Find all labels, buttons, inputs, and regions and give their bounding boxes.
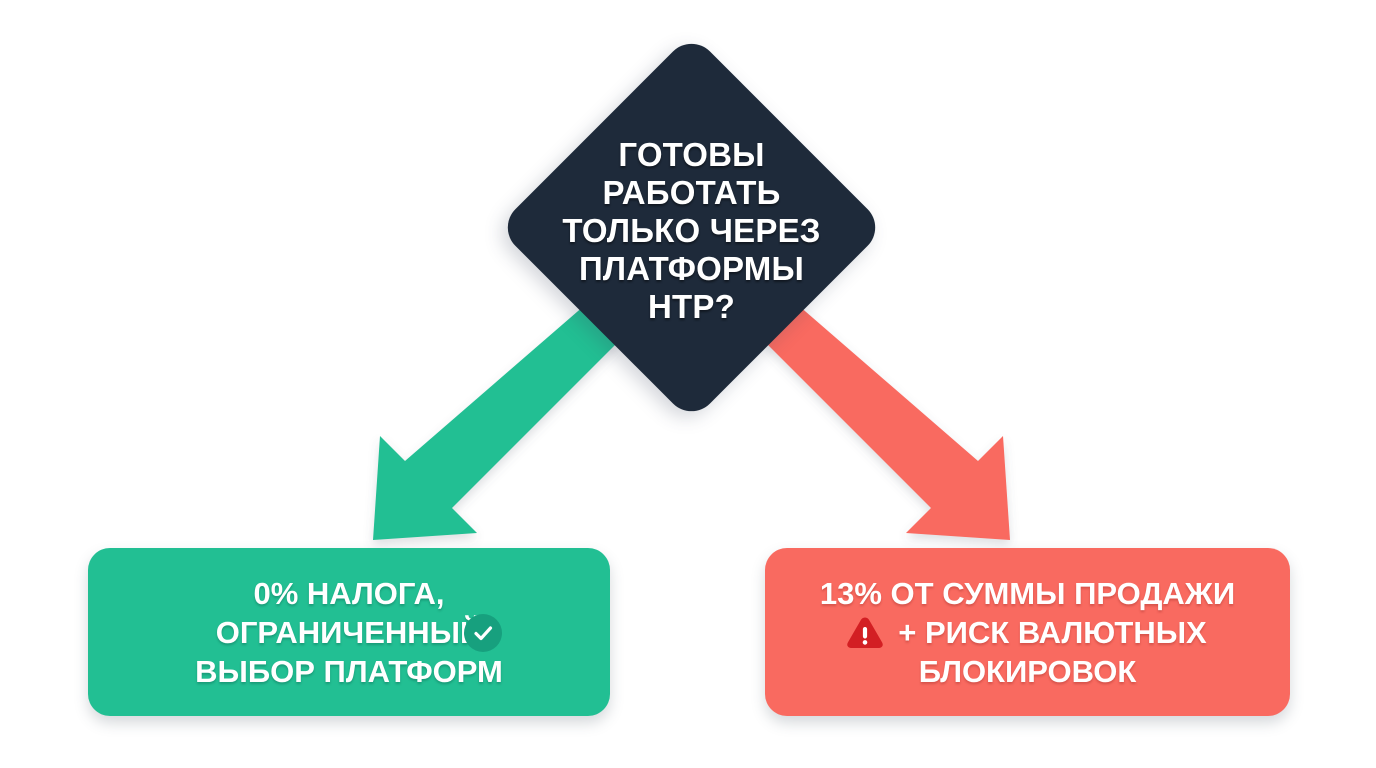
outcome-yes-line-2: ОГРАНИЧЕННЫЙ: [216, 613, 483, 652]
outcome-box-yes: 0% НАЛОГА, ОГРАНИЧЕННЫЙ ВЫБОР ПЛАТФОРМ: [88, 548, 610, 716]
outcome-yes-line-1: 0% НАЛОГА,: [253, 574, 444, 613]
decision-diamond-shape: [497, 33, 886, 422]
warning-triangle-icon: [844, 613, 886, 651]
outcome-no-line-3: БЛОКИРОВОК: [919, 652, 1137, 691]
check-circle-icon: [464, 614, 502, 652]
decision-node: ГОТОВЫ РАБОТАТЬ ТОЛЬКО ЧЕРЕЗ ПЛАТФОРМЫ Н…: [498, 34, 885, 421]
outcome-yes-line-3: ВЫБОР ПЛАТФОРМ: [195, 652, 503, 691]
outcome-box-no: 13% ОТ СУММЫ ПРОДАЖИ + РИСК ВАЛЮТНЫХ БЛО…: [765, 548, 1290, 716]
outcome-yes-text: 0% НАЛОГА, ОГРАНИЧЕННЫЙ ВЫБОР ПЛАТФОРМ: [195, 574, 503, 691]
outcome-no-line-1: 13% ОТ СУММЫ ПРОДАЖИ: [820, 574, 1235, 613]
outcome-no-line-2-row: + РИСК ВАЛЮТНЫХ: [848, 613, 1207, 652]
diagram-canvas: ГОТОВЫ РАБОТАТЬ ТОЛЬКО ЧЕРЕЗ ПЛАТФОРМЫ Н…: [0, 0, 1376, 768]
outcome-no-line-2: + РИСК ВАЛЮТНЫХ: [898, 613, 1207, 652]
outcome-no-text: 13% ОТ СУММЫ ПРОДАЖИ + РИСК ВАЛЮТНЫХ БЛО…: [820, 574, 1235, 691]
